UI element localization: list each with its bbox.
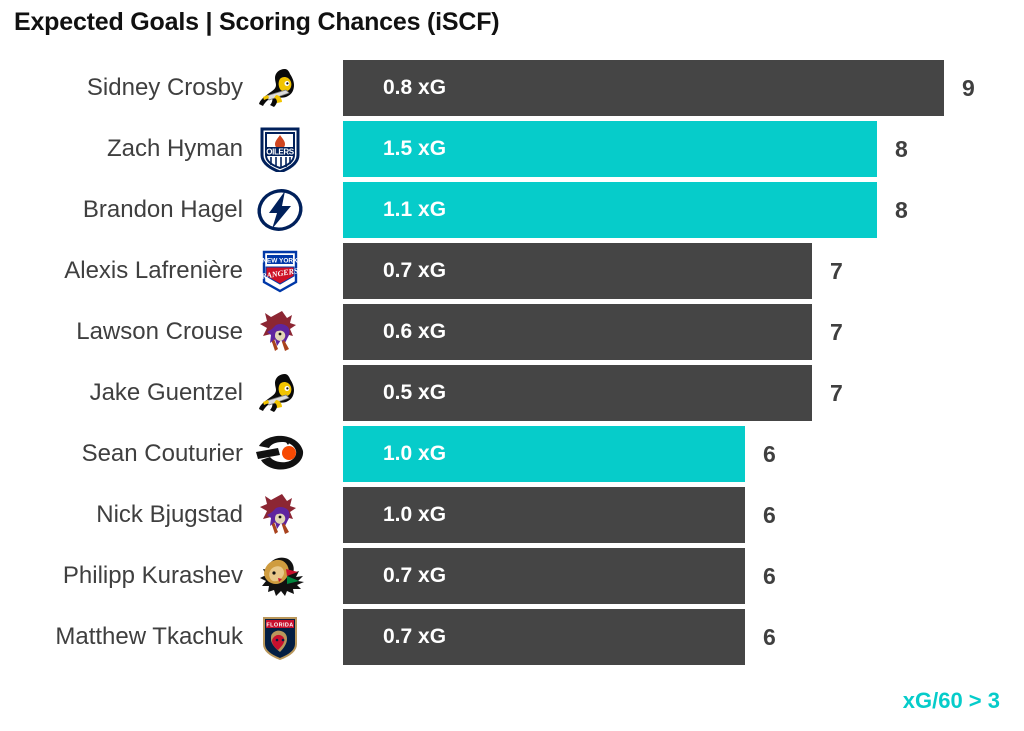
bar-chart-rows: Sidney Crosby 0.8 xG9Zach Hyman OILERS	[0, 59, 1024, 669]
row-end-value: 8	[895, 120, 908, 178]
bar: 0.5 xG	[343, 365, 812, 421]
svg-text:NEW YORK: NEW YORK	[262, 258, 298, 265]
bar: 1.0 xG	[343, 426, 745, 482]
bar: 0.8 xG	[343, 60, 944, 116]
player-name: Jake Guentzel	[90, 364, 243, 422]
row-end-value: 6	[763, 608, 776, 666]
bar: 0.7 xG	[343, 609, 745, 665]
rangers-logo: NEW YORK RANGERS	[252, 242, 308, 300]
row-end-value: 7	[830, 303, 843, 361]
oilers-logo: OILERS	[252, 120, 308, 178]
row-end-value: 6	[763, 425, 776, 483]
row-end-value: 8	[895, 181, 908, 239]
row-end-value: 7	[830, 364, 843, 422]
chart-row: Matthew Tkachuk FLORIDA 0.7 xG6	[0, 608, 1024, 669]
bar: 0.6 xG	[343, 304, 812, 360]
chart-row: Brandon Hagel 1.1 xG8	[0, 181, 1024, 242]
svg-text:FLORIDA: FLORIDA	[266, 623, 293, 629]
svg-text:OILERS: OILERS	[266, 148, 294, 157]
lightning-logo	[252, 181, 308, 239]
coyotes-logo	[252, 486, 308, 544]
bar: 1.1 xG	[343, 182, 877, 238]
chart-row: Nick Bjugstad 1.0 xG6	[0, 486, 1024, 547]
penguins-logo	[252, 59, 308, 117]
chart-row: Jake Guentzel 0.5 xG7	[0, 364, 1024, 425]
bar: 1.0 xG	[343, 487, 745, 543]
panthers-logo: FLORIDA	[252, 608, 308, 666]
bar-value-label: 0.6 xG	[383, 304, 446, 360]
bar-value-label: 1.1 xG	[383, 182, 446, 238]
chart-row: Zach Hyman OILERS 1.5 xG8	[0, 120, 1024, 181]
chart-row: Sidney Crosby 0.8 xG9	[0, 59, 1024, 120]
bar-value-label: 0.8 xG	[383, 60, 446, 116]
row-end-value: 6	[763, 547, 776, 605]
footer-annotation: xG/60 > 3	[903, 688, 1000, 714]
bar-value-label: 0.7 xG	[383, 243, 446, 299]
flyers-logo	[252, 425, 308, 483]
chart-row: Alexis Lafrenière NEW YORK RANGERS 0.7 x…	[0, 242, 1024, 303]
blackhawks-logo	[252, 547, 308, 605]
player-name: Sidney Crosby	[87, 59, 243, 117]
player-name: Zach Hyman	[107, 120, 243, 178]
chart-row: Lawson Crouse 0.6 xG7	[0, 303, 1024, 364]
bar: 1.5 xG	[343, 121, 877, 177]
bar: 0.7 xG	[343, 548, 745, 604]
player-name: Lawson Crouse	[76, 303, 243, 361]
bar-value-label: 0.5 xG	[383, 365, 446, 421]
player-name: Nick Bjugstad	[96, 486, 243, 544]
player-name: Philipp Kurashev	[63, 547, 243, 605]
chart-row: Philipp Kurashev 0.7 xG6	[0, 547, 1024, 608]
row-end-value: 9	[962, 59, 975, 117]
coyotes-logo	[252, 303, 308, 361]
bar: 0.7 xG	[343, 243, 812, 299]
player-name: Alexis Lafrenière	[64, 242, 243, 300]
bar-value-label: 0.7 xG	[383, 548, 446, 604]
player-name: Matthew Tkachuk	[55, 608, 243, 666]
bar-value-label: 1.0 xG	[383, 487, 446, 543]
page-title: Expected Goals | Scoring Chances (iSCF)	[14, 8, 499, 37]
penguins-logo	[252, 364, 308, 422]
player-name: Sean Couturier	[82, 425, 243, 483]
chart-row: Sean Couturier 1.0 xG6	[0, 425, 1024, 486]
bar-value-label: 1.5 xG	[383, 121, 446, 177]
row-end-value: 7	[830, 242, 843, 300]
bar-value-label: 0.7 xG	[383, 609, 446, 665]
row-end-value: 6	[763, 486, 776, 544]
player-name: Brandon Hagel	[83, 181, 243, 239]
bar-value-label: 1.0 xG	[383, 426, 446, 482]
